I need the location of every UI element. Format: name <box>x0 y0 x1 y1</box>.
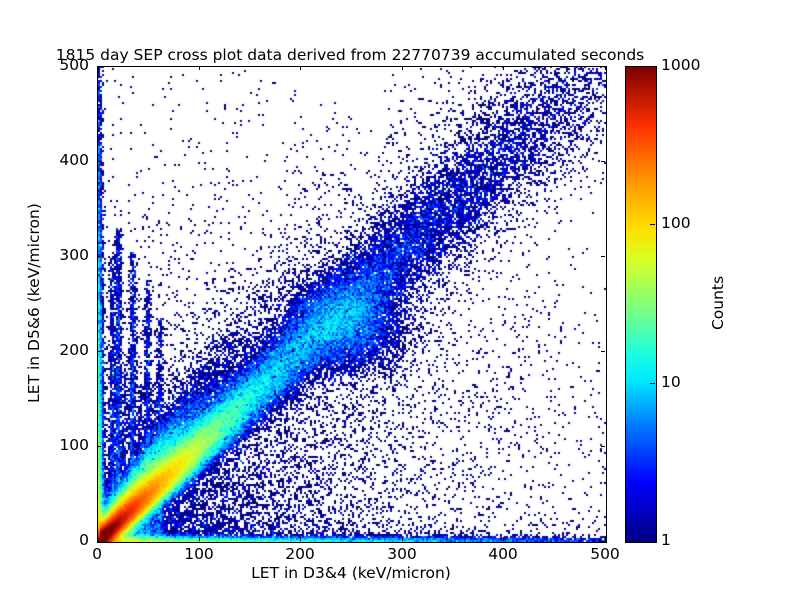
y-axis-tick-right <box>601 446 605 447</box>
colorbar <box>625 66 657 543</box>
x-axis-tick-bottom <box>300 537 301 541</box>
x-axis-tick-label: 500 <box>575 545 635 563</box>
x-axis-tick-bottom <box>605 537 606 541</box>
x-axis-tick-label: 200 <box>270 545 330 563</box>
colorbar-gradient <box>626 67 656 542</box>
y-axis-tick-left <box>97 256 101 257</box>
colorbar-tick-label: 100 <box>661 214 691 232</box>
x-axis-tick-top <box>605 66 606 70</box>
x-axis-tick-label: 100 <box>169 545 229 563</box>
x-axis-tick-bottom <box>503 537 504 541</box>
x-axis-tick-label: 400 <box>473 545 533 563</box>
chart-title-line-1: 1815 day SEP cross plot data derived fro… <box>0 46 700 65</box>
plot-area <box>97 66 607 543</box>
y-axis-tick-label: 500 <box>29 56 89 74</box>
colorbar-tick-label: 1000 <box>661 56 700 74</box>
x-axis-tick-bottom <box>402 537 403 541</box>
y-axis-tick-left <box>97 351 101 352</box>
colorbar-tick <box>650 224 655 225</box>
x-axis-tick-label: 300 <box>372 545 432 563</box>
density-heatmap-canvas <box>98 67 606 542</box>
colorbar-tick-label: 10 <box>661 373 681 391</box>
y-axis-tick-left <box>97 66 101 67</box>
y-axis-label: LET in D5&6 (keV/micron) <box>25 203 43 403</box>
x-axis-tick-top <box>300 66 301 70</box>
colorbar-tick-label: 1 <box>661 531 671 549</box>
colorbar-label: Counts <box>709 276 727 330</box>
y-axis-tick-label: 0 <box>29 531 89 549</box>
y-axis-tick-label: 100 <box>29 436 89 454</box>
x-axis-tick-top <box>402 66 403 70</box>
y-axis-tick-left <box>97 446 101 447</box>
x-axis-tick-top <box>199 66 200 70</box>
y-axis-tick-right <box>601 66 605 67</box>
y-axis-tick-right <box>601 351 605 352</box>
colorbar-tick <box>650 383 655 384</box>
y-axis-tick-label: 400 <box>29 151 89 169</box>
y-axis-tick-right <box>601 541 605 542</box>
y-axis-tick-right <box>601 256 605 257</box>
x-axis-tick-top <box>503 66 504 70</box>
y-axis-tick-left <box>97 541 101 542</box>
y-axis-tick-right <box>601 161 605 162</box>
x-axis-label: LET in D3&4 (keV/micron) <box>97 564 605 582</box>
x-axis-tick-bottom <box>199 537 200 541</box>
y-axis-tick-left <box>97 161 101 162</box>
